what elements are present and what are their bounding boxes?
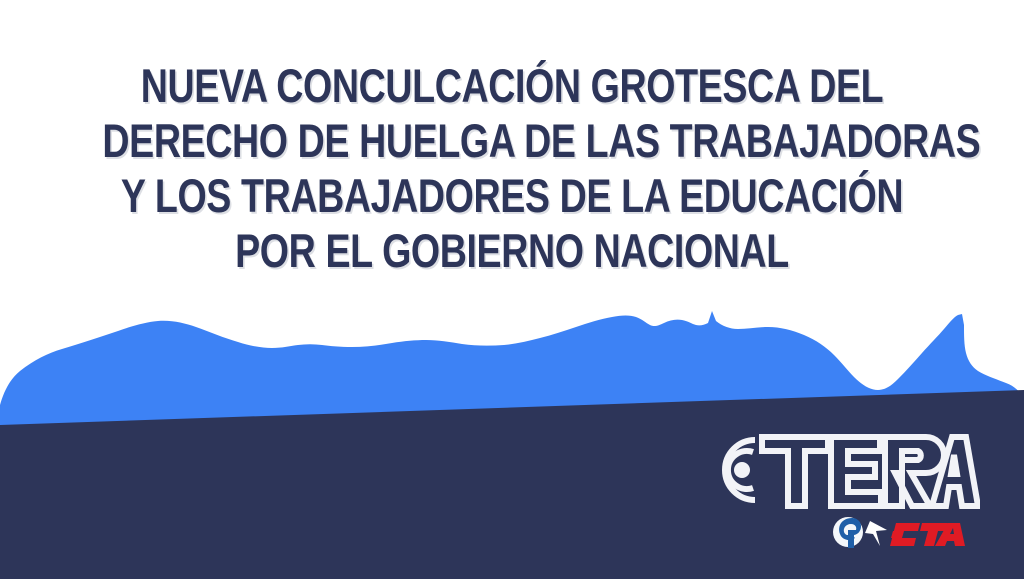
cta-logo: [832, 508, 968, 558]
headline-line-1: NUEVA CONCULCACIÓN GROTESCA DEL: [102, 58, 921, 113]
headline-line-2: DERECHO DE HUELGA DE LAS TRABAJADORAS: [102, 113, 921, 168]
headline-line-3: Y LOS TRABAJADORES DE LA EDUCACIÓN: [102, 168, 921, 223]
cta-emblem-icon: [833, 517, 863, 548]
poster-canvas: NUEVA CONCULCACIÓN GROTESCA DEL DERECHO …: [0, 0, 1024, 579]
page-title: NUEVA CONCULCACIÓN GROTESCA DEL DERECHO …: [0, 58, 1024, 278]
headline-line-4: POR EL GOBIERNO NACIONAL: [102, 223, 921, 278]
cta-wordmark: [890, 523, 965, 546]
cta-swoosh-icon: [865, 521, 887, 546]
ctera-logo: [700, 424, 980, 516]
